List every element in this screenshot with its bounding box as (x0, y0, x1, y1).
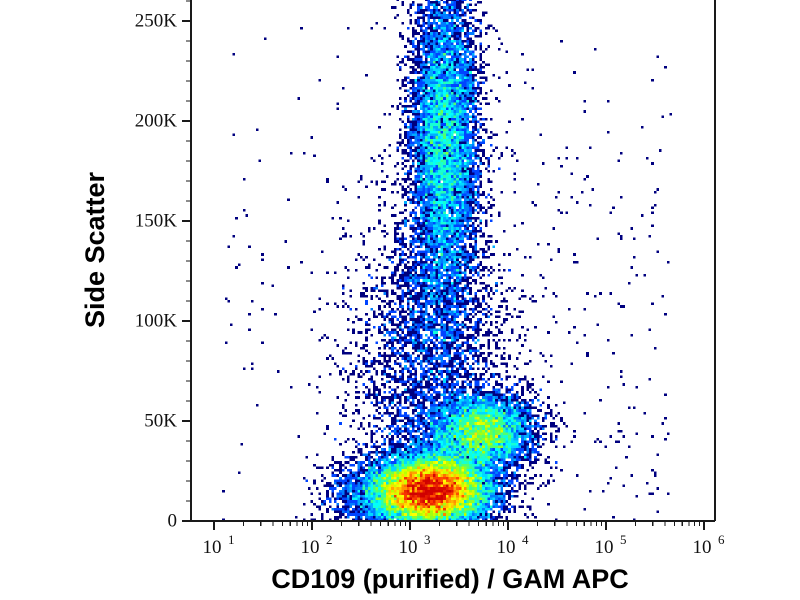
svg-text:5: 5 (620, 532, 627, 547)
y-tick-label: 250K (135, 10, 178, 31)
dot-plot-canvas: 050K100K150K200K250K 101102103104105106 … (0, 0, 800, 600)
svg-text:1: 1 (228, 532, 235, 547)
y-tick-label: 0 (168, 510, 178, 531)
svg-text:10: 10 (497, 537, 516, 558)
svg-text:6: 6 (718, 532, 725, 547)
svg-text:10: 10 (301, 537, 320, 558)
y-axis-title: Side Scatter (80, 171, 110, 328)
svg-text:10: 10 (693, 537, 712, 558)
svg-text:3: 3 (424, 532, 431, 547)
svg-text:10: 10 (203, 537, 222, 558)
y-tick-label: 50K (144, 410, 177, 431)
svg-text:2: 2 (326, 532, 333, 547)
y-tick-label: 150K (135, 210, 178, 231)
svg-text:10: 10 (399, 537, 418, 558)
y-tick-label: 200K (135, 110, 178, 131)
y-tick-label: 100K (135, 310, 178, 331)
x-axis-title: CD109 (purified) / GAM APC (271, 564, 629, 594)
svg-text:4: 4 (522, 532, 529, 547)
flow-cytometry-figure: 050K100K150K200K250K 101102103104105106 … (0, 0, 800, 600)
svg-text:10: 10 (595, 537, 614, 558)
